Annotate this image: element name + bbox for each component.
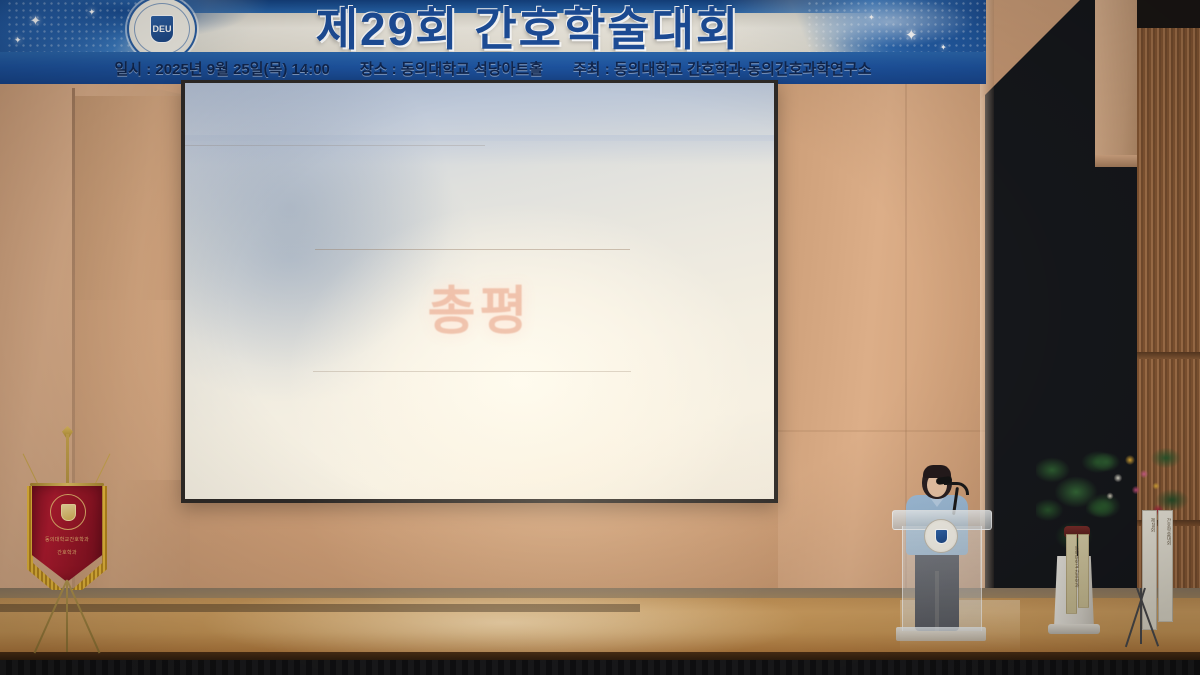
projection-screen: 총평 <box>185 83 774 499</box>
congratulatory-flower-stand: 제29회 간호학술대회 <box>1086 438 1191 653</box>
flower-stand-text-1: 제29회 <box>1143 518 1156 532</box>
tripod-leg <box>66 580 68 652</box>
podium-area <box>886 455 996 650</box>
proscenium-column-lip <box>1095 155 1141 167</box>
flower-stand-text-2: 간호학술대회 <box>1159 518 1172 545</box>
slide-rule-line-top <box>315 249 630 250</box>
podium-emblem <box>924 519 958 553</box>
flag-text-line-1: 동의대학교간호학과 <box>34 537 100 544</box>
banner-datetime: 일시 : 2025년 9월 25일(목) 14:00 <box>115 58 330 79</box>
slat-wall-top-shadow <box>1137 0 1200 28</box>
stage-photo: ✦ ✦ ✦ ✦ ✦ ✦ DEU 제29회 간호학술대회 일시 : 2025년 9… <box>0 0 1200 675</box>
orchestra-pit-grille <box>0 660 1200 675</box>
podium-base <box>896 627 986 641</box>
screen-seam-line <box>185 145 485 146</box>
flag-crossbar <box>30 483 104 486</box>
podium-emblem-shield <box>935 529 948 544</box>
slide-rule-line-bottom <box>313 371 631 372</box>
sparkle-icon: ✦ <box>88 8 96 17</box>
flag-crest-shield <box>61 504 76 521</box>
slide-title: 총평 <box>185 269 774 344</box>
flower-arrangement <box>1086 438 1191 528</box>
flag-text-line-2: 간호학과 <box>34 550 100 557</box>
tripod-leg <box>34 580 68 654</box>
sparkle-icon: ✦ <box>940 44 947 52</box>
sparkle-icon: ✦ <box>868 14 875 22</box>
emblem-ring <box>134 3 190 55</box>
flag-cord-left <box>23 454 39 485</box>
sparkle-icon: ✦ <box>14 36 22 45</box>
tripod-leg <box>66 580 100 654</box>
ceremonial-flag: 동의대학교간호학과 간호학과 <box>14 432 119 662</box>
banner-main-title: 제29회 간호학술대회 <box>188 0 868 54</box>
flag-cord-right <box>95 454 111 485</box>
slat-wall-seam-1 <box>1137 352 1200 359</box>
ribbon-text: 동의대학교 간호학과 <box>1067 546 1080 588</box>
event-banner: ✦ ✦ ✦ ✦ ✦ ✦ DEU 제29회 간호학술대회 일시 : 2025년 9… <box>0 0 986 84</box>
sparkle-icon: ✦ <box>905 28 918 43</box>
flag-crest-icon <box>50 494 86 530</box>
banner-subline: 일시 : 2025년 9월 25일(목) 14:00 장소 : 동의대학교 석당… <box>0 53 986 83</box>
flower-stand-leg <box>1140 588 1142 644</box>
flag-tripod-stand <box>22 580 112 662</box>
banner-organizer: 주최 : 동의대학교 간호학과·동의간호과학연구소 <box>573 58 872 79</box>
sparkle-icon: ✦ <box>30 14 41 27</box>
banner-location: 장소 : 동의대학교 석당아트홀 <box>360 58 543 79</box>
proscenium-column <box>1095 0 1137 165</box>
